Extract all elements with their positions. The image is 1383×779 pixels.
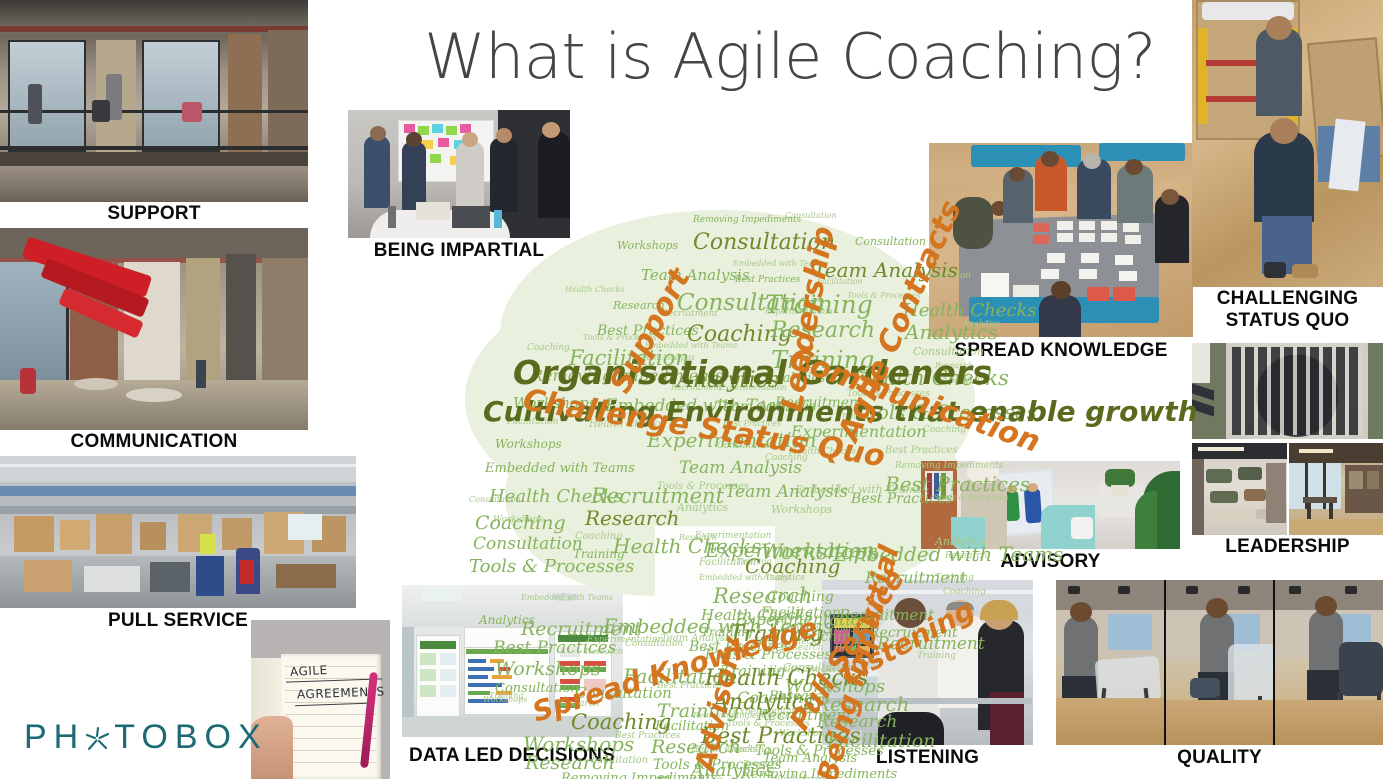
wordcloud-term: Tools & Processes	[469, 558, 634, 576]
photo-leadership-office-b-image	[1289, 443, 1383, 535]
wordcloud-term: Removing Impediments	[693, 216, 801, 225]
wordcloud-term: Workshops	[495, 438, 562, 450]
caption-challenging-status-quo: CHALLENGING STATUS QUO	[1192, 288, 1383, 332]
photobox-logo: PH TOBOX	[24, 718, 268, 757]
wordcloud-term: Workshops	[771, 504, 832, 515]
slide-canvas: What is Agile Coaching? SUPPORT	[0, 0, 1383, 779]
wordcloud-term: Workshops	[617, 240, 678, 251]
photo-support-image	[0, 0, 308, 202]
wordcloud-term: Recruitment	[591, 486, 724, 507]
photo-leadership-office-a-image	[1192, 443, 1287, 535]
photo-challenging-status-quo-image	[1192, 0, 1383, 287]
photo-pull-service-image	[0, 456, 356, 608]
logo-text-left: PH	[24, 718, 85, 757]
wordcloud-term: Consultation	[473, 536, 583, 553]
photo-communication-image	[0, 228, 308, 430]
wordcloud-term: Health Checks	[565, 286, 624, 294]
photo-leadership-office-b	[1289, 443, 1383, 535]
photo-agile-agreements-image: AGILE AGREEMENTS	[251, 620, 390, 779]
wordcloud-term: Workshops	[761, 542, 878, 563]
notebook-handwriting-line1: AGILE	[290, 663, 328, 679]
photo-support	[0, 0, 308, 202]
sparkle-icon	[85, 724, 113, 752]
caption-leadership: LEADERSHIP	[1192, 536, 1383, 558]
wordcloud-term: Coaching	[527, 344, 570, 353]
caption-quality: QUALITY	[1056, 747, 1383, 769]
caption-communication: COMMUNICATION	[0, 431, 308, 453]
wordcloud-term: Workshops	[523, 734, 634, 754]
wordcloud-term: Coaching	[571, 712, 671, 733]
photo-leadership-group-image	[1192, 343, 1383, 439]
wordcloud-term: Team Analysis	[725, 484, 848, 501]
wordcloud-term: Best Practices	[885, 474, 1030, 494]
wordcloud-term: Embedded with Teams	[485, 462, 635, 475]
caption-support: SUPPORT	[0, 203, 308, 225]
wordcloud-term: Research	[585, 508, 680, 528]
wordcloud-term: Analytics	[905, 322, 998, 342]
photo-pull-service	[0, 456, 356, 608]
wordcloud-term: Best Practices	[885, 446, 958, 456]
logo-text-right: TOBOX	[114, 718, 267, 757]
photo-communication	[0, 228, 308, 430]
photo-quality	[1056, 580, 1383, 745]
wordcloud-term: Best Practices	[493, 640, 616, 657]
wordcloud-term: Facilitation	[655, 774, 769, 779]
wordcloud-term: Embedded with Teams	[521, 594, 613, 602]
wordcloud-term: Research	[525, 754, 615, 773]
wordcloud-term: Research	[713, 586, 812, 607]
photo-challenging-status-quo	[1192, 0, 1383, 287]
page-title: What is Agile Coaching?	[410, 24, 1170, 89]
wordcloud-term: Team Analysis	[679, 460, 802, 477]
wordcloud-term: Removing Impediments	[895, 462, 1003, 471]
wordcloud-term: Workshops	[495, 660, 601, 679]
photo-quality-image	[1056, 580, 1383, 745]
photo-leadership-group	[1192, 343, 1383, 439]
photo-leadership-office-a	[1192, 443, 1287, 535]
wordcloud-term: Coaching	[475, 514, 566, 533]
photo-agile-agreements: AGILE AGREEMENTS	[251, 620, 390, 779]
